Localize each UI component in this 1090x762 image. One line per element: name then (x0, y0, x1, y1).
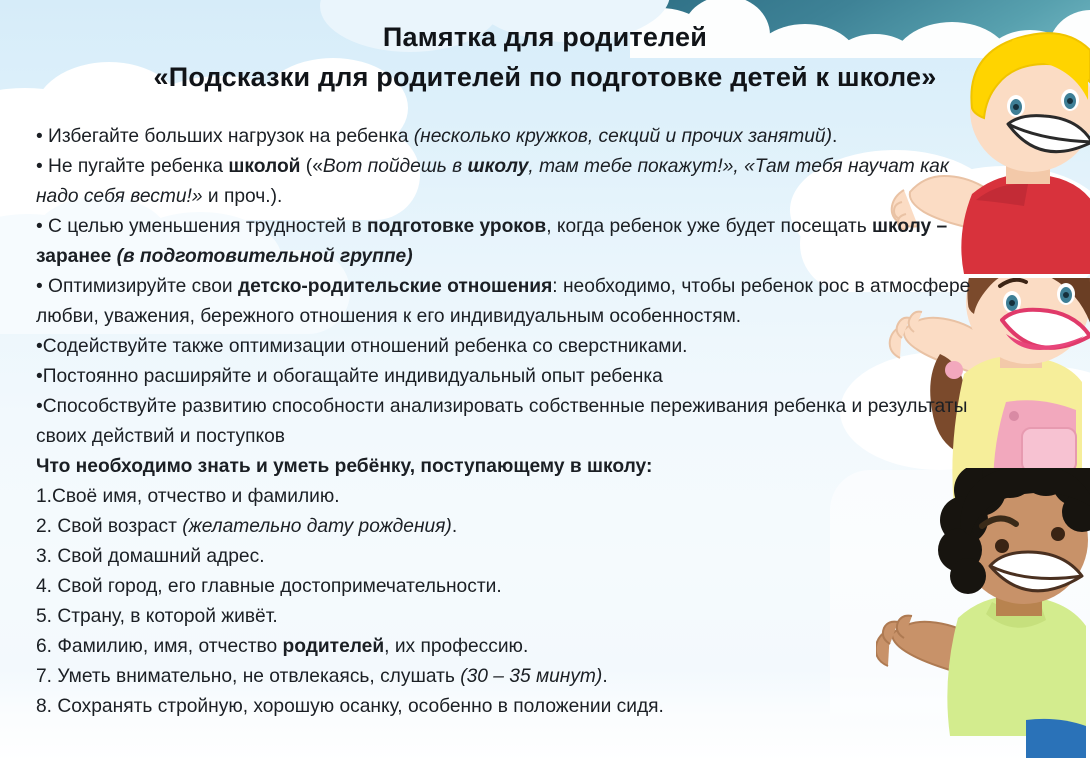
poster-title-line2: «Подсказки для родителей по подготовке д… (0, 62, 1090, 94)
requirement-item: 2. Свой возраст (желательно дату рождени… (36, 512, 996, 542)
list-number: 1. (36, 486, 52, 507)
advice-item: •Способствуйте развитию способности анал… (36, 392, 996, 452)
bottom-rule (0, 758, 1090, 762)
bullet-marker: • (36, 396, 43, 417)
advice-item: • Оптимизируйте свои детско-родительские… (36, 272, 996, 332)
list-number: 6. (36, 636, 52, 657)
poster-title-line1: Памятка для родителей (0, 22, 1090, 54)
list-number: 8. (36, 696, 52, 717)
requirements-list: 1.Своё имя, отчество и фамилию.2. Свой в… (36, 482, 996, 722)
poster-canvas: Памятка для родителей «Подсказки для род… (0, 0, 1090, 762)
title-block: Памятка для родителей «Подсказки для род… (0, 22, 1090, 94)
list-number: 4. (36, 576, 52, 597)
bullet-marker: • (36, 216, 43, 237)
advice-item: • Не пугайте ребенка школой («Вот пойдеш… (36, 152, 996, 212)
requirement-item: 5. Страну, в которой живёт. (36, 602, 996, 632)
advice-item: • Избегайте больших нагрузок на ребенка … (36, 122, 996, 152)
bullet-marker: • (36, 366, 43, 387)
bullet-marker: • (36, 126, 43, 147)
requirement-item: 8. Сохранять стройную, хорошую осанку, о… (36, 692, 996, 722)
bullet-marker: • (36, 276, 43, 297)
poster-body: • Избегайте больших нагрузок на ребенка … (36, 122, 996, 722)
advice-item: •Содействуйте также оптимизации отношени… (36, 332, 996, 362)
bullet-marker: • (36, 156, 43, 177)
list-number: 3. (36, 546, 52, 567)
requirement-item: 1.Своё имя, отчество и фамилию. (36, 482, 996, 512)
requirement-item: 6. Фамилию, имя, отчество родителей, их … (36, 632, 996, 662)
advice-item: • С целью уменьшения трудностей в подгот… (36, 212, 996, 272)
advice-item: •Постоянно расширяйте и обогащайте индив… (36, 362, 996, 392)
requirement-item: 7. Уметь внимательно, не отвлекаясь, слу… (36, 662, 996, 692)
list-number: 2. (36, 516, 52, 537)
section-heading: Что необходимо знать и уметь ребёнку, по… (36, 452, 996, 482)
bullet-marker: • (36, 336, 43, 357)
list-number: 5. (36, 606, 52, 627)
advice-list: • Избегайте больших нагрузок на ребенка … (36, 122, 996, 452)
requirement-item: 3. Свой домашний адрес. (36, 542, 996, 572)
list-number: 7. (36, 666, 52, 687)
requirement-item: 4. Свой город, его главные достопримечат… (36, 572, 996, 602)
